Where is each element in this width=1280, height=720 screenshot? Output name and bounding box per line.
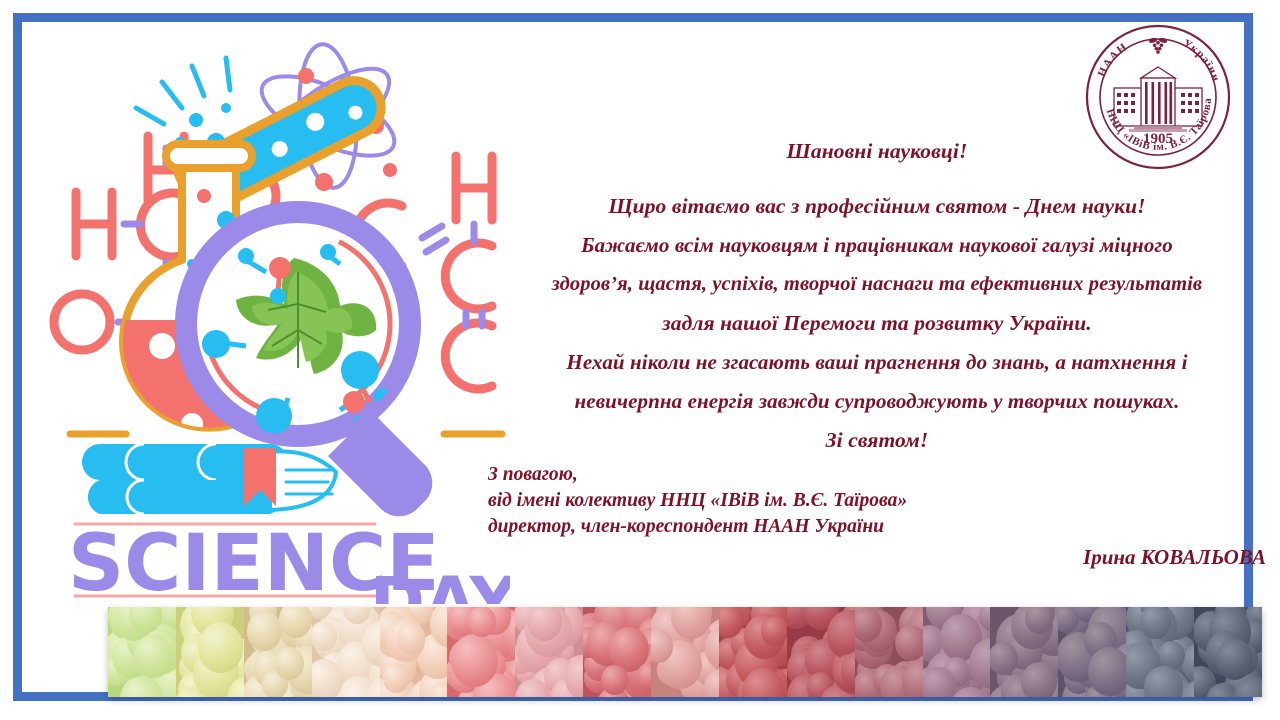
greeting-line-3: здоров’я, щастя, успіхів, творчої наснаг…	[486, 265, 1268, 304]
grape-cell-red-grapes	[583, 607, 651, 697]
signature-position: директор, член-кореспондент НААН України	[488, 514, 1266, 540]
grape-berries	[515, 607, 583, 697]
greeting-salutation: Шановні науковці!	[486, 132, 1268, 171]
grape-cell-pink-grapes	[447, 607, 515, 697]
greeting-line-5: Нехай ніколи не згасають ваші прагнення …	[486, 343, 1268, 382]
greeting-line-6: невичерпна енергія завжди супроводжують …	[486, 382, 1268, 421]
grape-cell-violet-grapes	[923, 607, 991, 697]
grape-cell-crimson-grapes	[719, 607, 787, 697]
grape-cell-dusty-blue-grapes	[1058, 607, 1126, 697]
grape-berries	[312, 607, 380, 697]
greeting-line-2: Бажаємо всім науковцям і працівникам нау…	[486, 226, 1268, 265]
grape-cell-blue-grapes	[1126, 607, 1194, 697]
grape-berries	[719, 607, 787, 697]
spark-lines	[136, 58, 230, 124]
signature-organization: від імені колективу ННЦ «ІВіВ ім. В.Є. Т…	[488, 488, 1266, 514]
grape-cell-pale-yellow-grapes	[176, 607, 244, 697]
grape-cell-dark-red-grapes	[787, 607, 855, 697]
grape-berries	[176, 607, 244, 697]
signature-name: Ірина КОВАЛЬОВА	[488, 544, 1266, 570]
grape-berries	[923, 607, 991, 697]
grape-cell-golden-grapes	[244, 607, 312, 697]
grape-berries	[1058, 607, 1126, 697]
greeting-line-4: задля нашої Перемоги та розвитку України…	[486, 304, 1268, 343]
grape-berries	[447, 607, 515, 697]
grape-berries	[583, 607, 651, 697]
science-day-wordmark: SCIENCE DAY	[68, 519, 510, 604]
greeting-closing: Зі святом!	[486, 421, 1268, 460]
grape-berries	[244, 607, 312, 697]
grape-berries	[787, 607, 855, 697]
grape-cell-blush-grapes	[380, 607, 448, 697]
grape-cell-rose-grapes	[515, 607, 583, 697]
books-icon	[82, 444, 336, 514]
science-day-illustration: SCIENCE DAY	[40, 24, 510, 604]
signature-block: З повагою, від імені колективу ННЦ «ІВіВ…	[488, 462, 1266, 570]
grape-berries	[380, 607, 448, 697]
grape-berries	[990, 607, 1058, 697]
greeting-line-1: Щиро вітаємо вас з професійним святом - …	[486, 187, 1268, 226]
grape-cell-dark-blue-grapes	[1194, 607, 1262, 697]
grape-cell-light-red-grapes	[651, 607, 719, 697]
grape-cell-slate-purple-grapes	[990, 607, 1058, 697]
grape-cell-purple-red-grapes	[855, 607, 923, 697]
grape-variety-photo-strip	[108, 607, 1262, 697]
grape-cell-cream-pink-grapes	[312, 607, 380, 697]
grape-berries	[1126, 607, 1194, 697]
greeting-text-block: Шановні науковці! Щиро вітаємо вас з про…	[486, 132, 1268, 460]
greeting-card: SCIENCE DAY	[0, 0, 1280, 720]
grape-berries	[651, 607, 719, 697]
grape-cell-green-grapes	[108, 607, 176, 697]
grape-berries	[1194, 607, 1262, 697]
grape-berries	[108, 607, 176, 697]
grape-berries	[855, 607, 923, 697]
signature-respect: З повагою,	[488, 462, 1266, 488]
